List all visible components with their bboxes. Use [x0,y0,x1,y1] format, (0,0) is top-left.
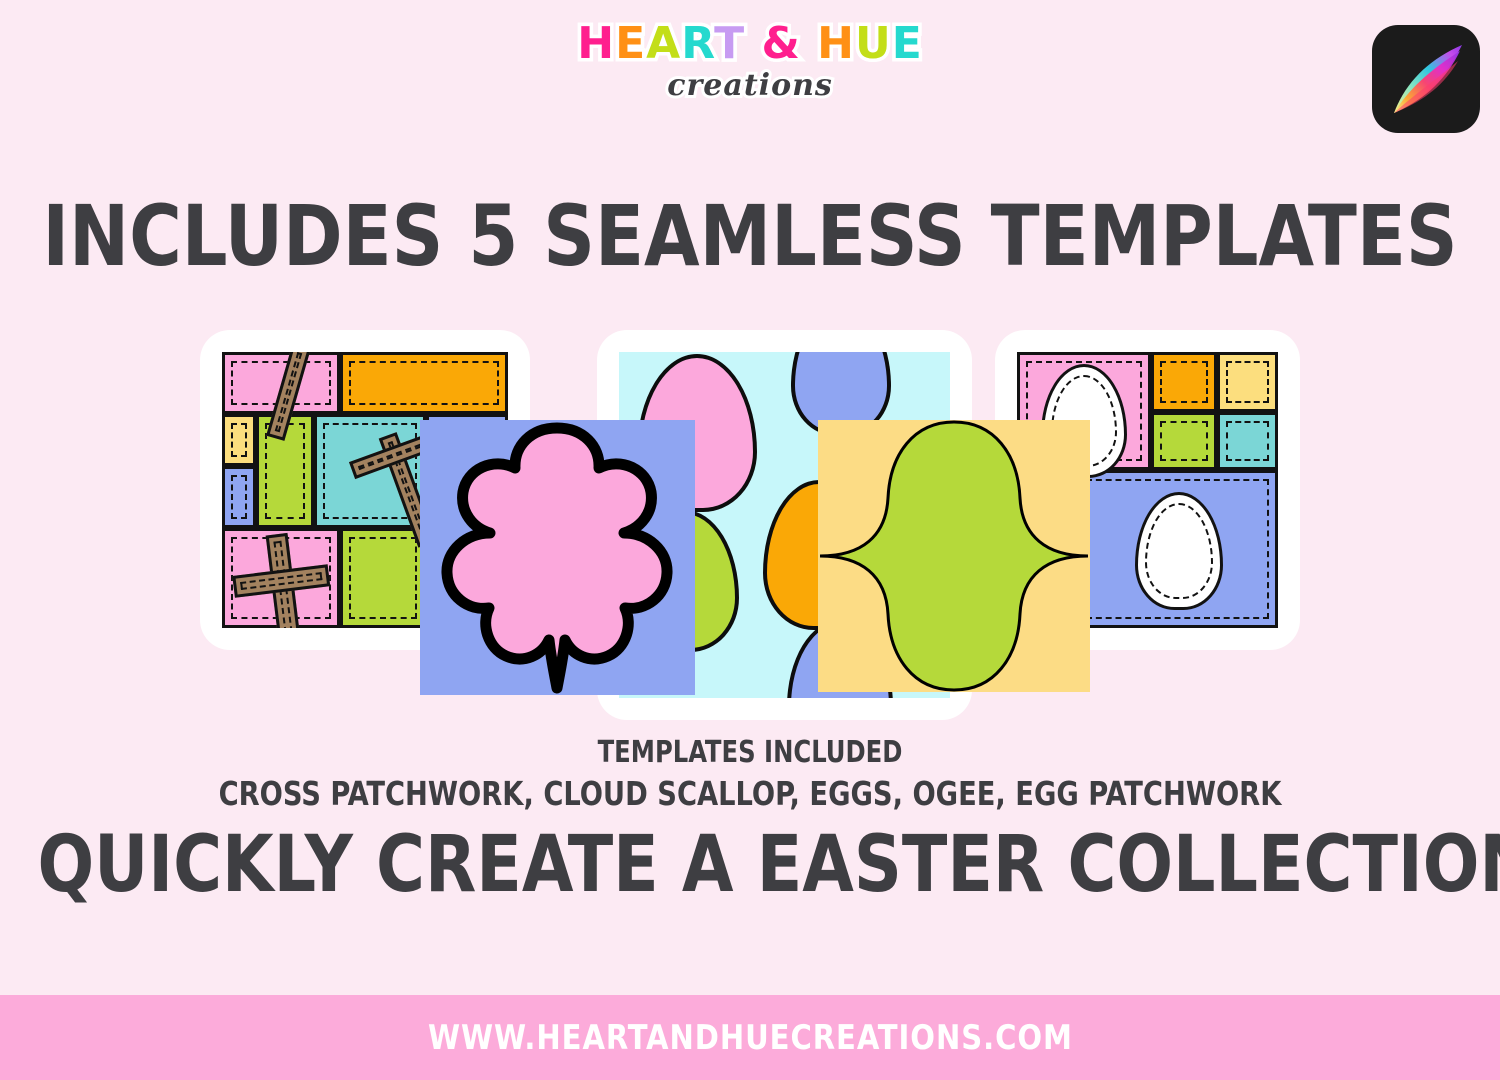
procreate-icon[interactable] [1372,25,1480,133]
procreate-swoosh-icon [1372,25,1480,133]
logo-letter: & [761,18,800,69]
patch-tile [222,466,256,528]
patch-tile [1151,352,1217,412]
brand-logo-primary: HEART & HUE [560,22,940,66]
templates-included-title: TEMPLATES INCLUDED [75,735,1425,770]
logo-letter: R [681,18,714,69]
template-card-ogee[interactable] [818,420,1090,692]
logo-letter: U [855,18,892,69]
header: HEART & HUE creations [0,0,1500,160]
logo-letter: E [615,18,646,69]
footer-bar: WWW.HEARTANDHUECREATIONS.COM [0,995,1500,1080]
patch-tile [340,352,508,414]
brand-logo-secondary: creations [560,68,940,103]
patch-tile [1217,412,1278,470]
logo-letter: T [714,18,745,69]
logo-letter: A [646,18,681,69]
logo-letter: E [892,18,923,69]
patch-tile [1217,352,1278,412]
brand-logo[interactable]: HEART & HUE creations [560,22,940,142]
logo-letter [745,18,761,69]
patch-tile [222,414,256,466]
patch-tile [1151,412,1217,470]
templates-included-list: CROSS PATCHWORK, CLOUD SCALLOP, EGGS, OG… [60,774,1440,813]
cross-ornament [228,529,336,628]
templates-included-block: TEMPLATES INCLUDED CROSS PATCHWORK, CLOU… [0,735,1500,813]
logo-letter [801,18,817,69]
cloud-scallop-artwork [420,420,695,695]
call-to-action-text: QUICKLY CREATE A EASTER COLLECTION! [38,820,1463,910]
page-title: INCLUDES 5 SEAMLESS TEMPLATES [38,192,1463,280]
ogee-artwork [818,420,1090,692]
website-url[interactable]: WWW.HEARTANDHUECREATIONS.COM [428,1018,1073,1058]
template-preview-gallery [0,325,1500,725]
template-card-cloud-scallop[interactable] [420,420,695,695]
logo-letter: H [577,18,615,69]
logo-letter: H [817,18,855,69]
